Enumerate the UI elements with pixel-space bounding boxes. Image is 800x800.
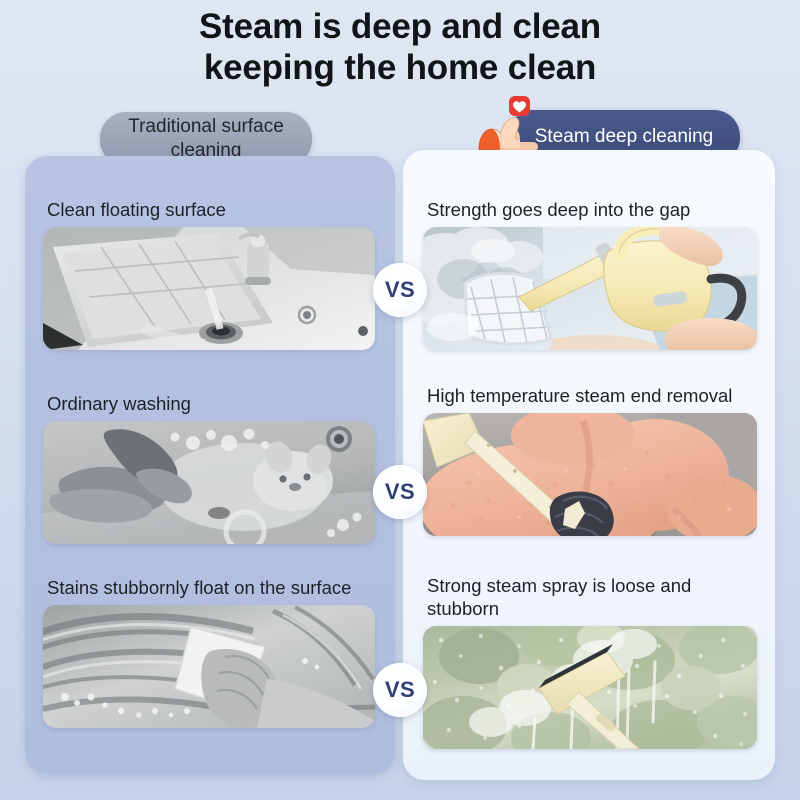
vs-badge-row-1: VS bbox=[373, 263, 427, 317]
left-row-2-photo bbox=[43, 421, 375, 544]
left-row-1-caption: Clean floating surface bbox=[25, 198, 395, 221]
steam-cleaning-panel: Strength goes deep into the gap bbox=[403, 150, 775, 780]
right-row-1: Strength goes deep into the gap bbox=[403, 198, 775, 350]
right-row-3-caption: Strong steam spray is loose and stubborn bbox=[403, 574, 775, 620]
left-row-1: Clean floating surface bbox=[25, 198, 395, 350]
left-row-2-caption: Ordinary washing bbox=[25, 392, 395, 415]
left-row-3: Stains stubbornly float on the surface bbox=[25, 576, 395, 728]
vs-badge-row-2: VS bbox=[373, 465, 427, 519]
vs-badge-row-1-label: VS bbox=[385, 277, 415, 303]
left-row-2: Ordinary washing bbox=[25, 392, 395, 544]
vs-badge-row-3: VS bbox=[373, 663, 427, 717]
left-row-1-photo bbox=[43, 227, 375, 350]
right-row-3-photo bbox=[423, 626, 757, 749]
steam-cleaning-badge-label: Steam deep cleaning bbox=[535, 125, 714, 149]
right-row-2: High temperature steam end removal bbox=[403, 384, 775, 536]
vs-badge-row-3-label: VS bbox=[385, 677, 415, 703]
traditional-cleaning-panel: Clean floating surface bbox=[25, 156, 395, 774]
page-title-line-1: Steam is deep and clean bbox=[0, 6, 800, 47]
right-row-3: Strong steam spray is loose and stubborn bbox=[403, 574, 775, 749]
right-row-2-photo bbox=[423, 413, 757, 536]
right-row-1-photo bbox=[423, 227, 757, 350]
heart-badge-icon bbox=[509, 96, 530, 116]
right-row-2-caption: High temperature steam end removal bbox=[403, 384, 775, 407]
page-title-line-2: keeping the home clean bbox=[0, 47, 800, 88]
left-row-3-caption: Stains stubbornly float on the surface bbox=[25, 576, 395, 599]
page-title: Steam is deep and clean keeping the home… bbox=[0, 6, 800, 88]
right-row-1-caption: Strength goes deep into the gap bbox=[403, 198, 775, 221]
vs-badge-row-2-label: VS bbox=[385, 479, 415, 505]
left-row-3-photo bbox=[43, 605, 375, 728]
